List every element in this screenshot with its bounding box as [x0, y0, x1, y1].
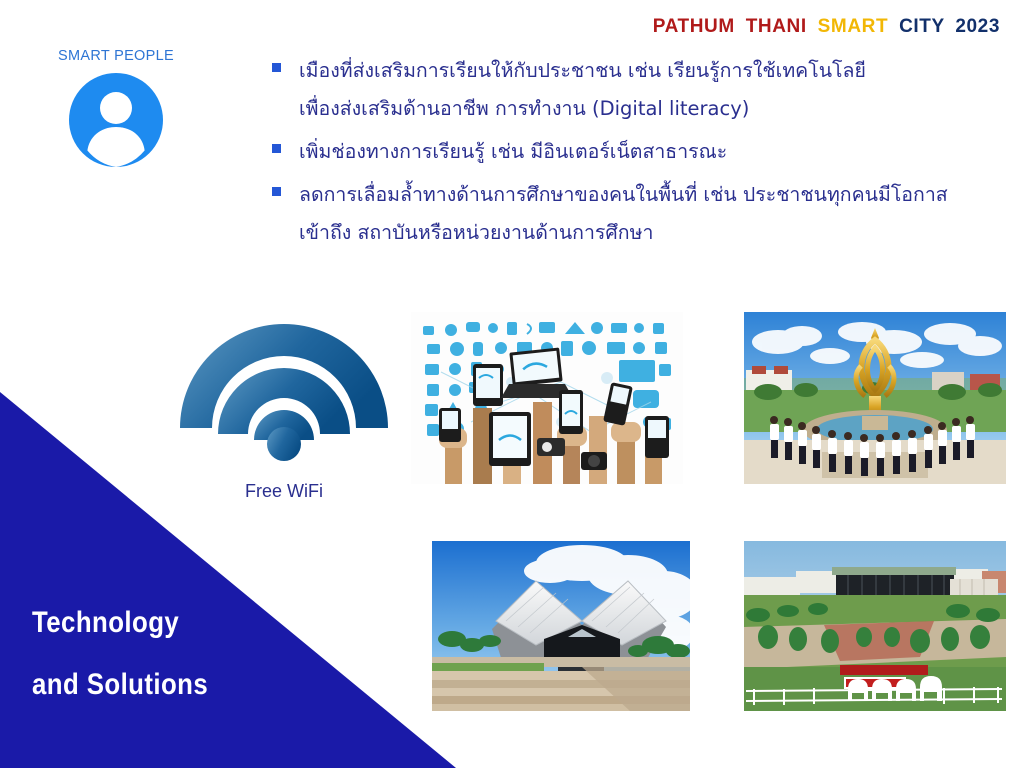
- corner-caption-line2: and Solutions: [32, 654, 208, 716]
- brand-word-year: 2023: [955, 16, 1000, 37]
- brand-word-thani: THANI: [746, 16, 807, 37]
- bullet-square-icon: [272, 63, 281, 72]
- photo-campus: [744, 312, 1006, 484]
- smart-people-label: SMART PEOPLE: [36, 48, 196, 64]
- bullet-item: ลดการเลื่อมล้ำทางด้านการศึกษาของคนในพื้น…: [272, 176, 972, 252]
- bullet-text: เมืองที่ส่งเสริมการเรียนให้กับประชาชน เช…: [299, 52, 866, 128]
- brand-word-city: CITY: [899, 16, 944, 37]
- wifi-signal-icon: [176, 312, 392, 462]
- bullet-line: เข้าถึง สถาบันหรือหน่วยงานด้านการศึกษา: [299, 214, 948, 252]
- bullet-text: เพิ่มช่องทางการเรียนรู้ เช่น มีอินเตอร์เ…: [299, 133, 727, 171]
- smart-people-badge: SMART PEOPLE: [36, 48, 196, 168]
- bullet-line: เพื่องส่งเสริมด้านอาชีพ การทำงาน (Digita…: [299, 90, 866, 128]
- brand-word-pathum: PATHUM: [653, 16, 735, 37]
- bullet-list: เมืองที่ส่งเสริมการเรียนให้กับประชาชน เช…: [272, 52, 972, 257]
- free-wifi-label: Free WiFi: [176, 481, 392, 502]
- person-circle-icon: [68, 72, 164, 168]
- bullet-square-icon: [272, 187, 281, 196]
- bullet-line: เมืองที่ส่งเสริมการเรียนให้กับประชาชน เช…: [299, 52, 866, 90]
- bullet-item: เมืองที่ส่งเสริมการเรียนให้กับประชาชน เช…: [272, 52, 972, 128]
- bullet-text: ลดการเลื่อมล้ำทางด้านการศึกษาของคนในพื้น…: [299, 176, 948, 252]
- brand-word-smart: SMART: [818, 16, 889, 37]
- photo-museum: [432, 541, 690, 711]
- corner-caption-line1: Technology: [32, 592, 208, 654]
- bullet-item: เพิ่มช่องทางการเรียนรู้ เช่น มีอินเตอร์เ…: [272, 133, 972, 171]
- brand-title: PATHUM THANI SMART CITY 2023: [653, 16, 1000, 38]
- bullet-line: เพิ่มช่องทางการเรียนรู้ เช่น มีอินเตอร์เ…: [299, 133, 727, 171]
- bullet-square-icon: [272, 144, 281, 153]
- photo-devices: [411, 312, 683, 484]
- slide-root: PATHUM THANI SMART CITY 2023 SMART PEOPL…: [0, 0, 1024, 768]
- free-wifi-block: Free WiFi: [176, 312, 392, 502]
- bullet-line: ลดการเลื่อมล้ำทางด้านการศึกษาของคนในพื้น…: [299, 176, 948, 214]
- photo-center: [744, 541, 1006, 711]
- corner-caption: Technology and Solutions: [32, 592, 208, 716]
